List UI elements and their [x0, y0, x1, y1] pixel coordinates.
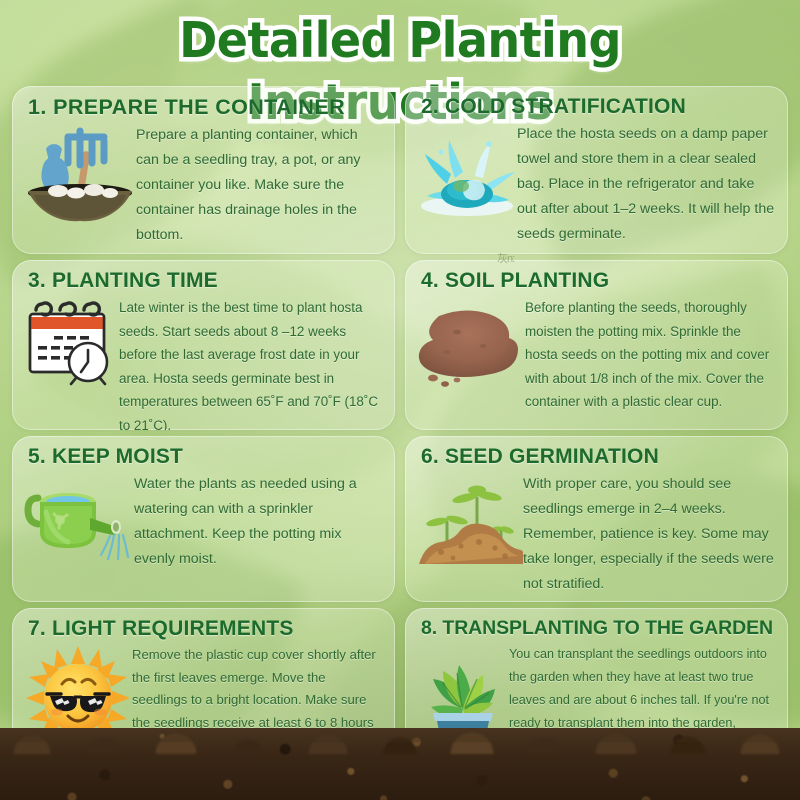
card-3-title: 3. PLANTING TIME [28, 269, 383, 293]
instruction-card-1[interactable]: 1. PREPARE THE CONTAINER [12, 86, 395, 254]
pot-with-trowel-and-fork-icon [24, 123, 136, 223]
card-6-title: 6. SEED GERMINATION [421, 445, 776, 469]
instruction-card-3[interactable]: 3. PLANTING TIME [12, 260, 395, 430]
card-1-text: Prepare a planting container, which can … [136, 123, 383, 248]
soil-mound-icon [417, 296, 525, 396]
card-5-text: Water the plants as needed using a water… [134, 472, 383, 572]
card-4-title: 4. SOIL PLANTING [421, 269, 776, 293]
card-3-text: Late winter is the best time to plant ho… [119, 296, 383, 430]
instruction-card-6[interactable]: 6. SEED GERMINATION [405, 436, 788, 602]
instruction-card-2[interactable]: 2. COLD STRATIFICATION [405, 86, 788, 254]
card-6-text: With proper care, you should see seedlin… [523, 472, 776, 597]
card-4-text: Before planting the seeds, thoroughly mo… [525, 296, 776, 414]
infographic-page: Detailed Planting Instructions 1. PREPAR… [0, 0, 800, 800]
card-8-title: 8. TRANSPLANTING TO THE GARDEN [421, 617, 776, 640]
seedlings-in-soil-icon [417, 472, 523, 572]
watering-can-icon [24, 472, 134, 572]
card-7-title: 7. LIGHT REQUIREMENTS [28, 617, 383, 641]
card-2-text: Place the hosta seeds on a damp paper to… [517, 122, 776, 247]
instruction-card-4[interactable]: 4. SOIL PLANTING [405, 260, 788, 430]
card-5-title: 5. KEEP MOIST [28, 445, 383, 469]
calendar-with-clock-icon [24, 296, 119, 396]
card-1-title: 1. PREPARE THE CONTAINER [28, 95, 383, 120]
water-splash-icon [417, 122, 517, 222]
card-2-title: 2. COLD STRATIFICATION [421, 95, 776, 119]
watermark-artifact: 灰n: [497, 250, 514, 266]
soil-texture-strip [0, 728, 800, 800]
instruction-card-5[interactable]: 5. KEEP MOIST [12, 436, 395, 602]
instruction-card-grid: 1. PREPARE THE CONTAINER [12, 86, 788, 774]
